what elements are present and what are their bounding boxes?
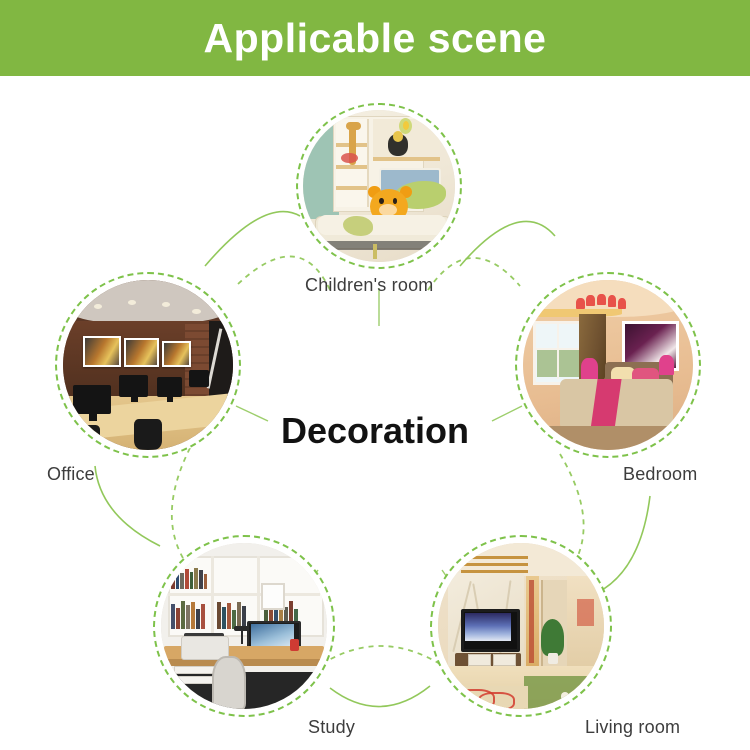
bedroom-photo bbox=[523, 280, 693, 450]
diagram-stage: Decoration bbox=[0, 76, 750, 750]
study-photo bbox=[161, 543, 327, 709]
bedroom-label: Bedroom bbox=[623, 464, 697, 485]
scene-node-children-room[interactable]: Children's room bbox=[296, 103, 462, 269]
office-photo bbox=[63, 280, 233, 450]
scene-node-bedroom[interactable]: Bedroom bbox=[515, 272, 701, 458]
office-label: Office bbox=[47, 464, 95, 485]
page-title: Applicable scene bbox=[204, 18, 547, 59]
scene-node-office[interactable]: Office bbox=[55, 272, 241, 458]
living-room-label: Living room bbox=[585, 717, 680, 738]
living-room-photo bbox=[438, 543, 604, 709]
study-label: Study bbox=[308, 717, 355, 738]
children-room-photo bbox=[303, 110, 455, 262]
scene-node-study[interactable]: Study bbox=[153, 535, 335, 717]
header-banner: Applicable scene bbox=[0, 0, 750, 76]
applicable-scene-infographic: Applicable scene bbox=[0, 0, 750, 750]
children-room-label: Children's room bbox=[305, 275, 433, 296]
scene-node-living-room[interactable]: Living room bbox=[430, 535, 612, 717]
